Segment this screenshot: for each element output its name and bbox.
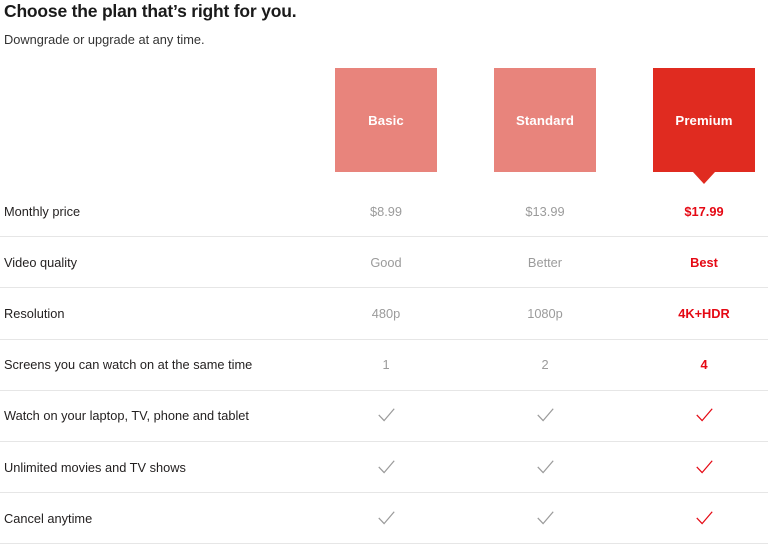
feature-label: Watch on your laptop, TV, phone and tabl… xyxy=(4,408,249,423)
check-icon xyxy=(536,509,555,528)
feature-value-cell: Good xyxy=(326,255,446,270)
feature-label: Cancel anytime xyxy=(4,511,92,526)
feature-value-cell: Best xyxy=(644,255,764,270)
feature-value-cell xyxy=(485,406,605,425)
check-icon xyxy=(536,406,555,425)
plan-comparison-page: Choose the plan that’s right for you. Do… xyxy=(0,0,768,543)
check-icon xyxy=(377,509,396,528)
plan-box-standard[interactable]: Standard xyxy=(494,68,596,172)
feature-value-cell: 4 xyxy=(644,357,764,372)
table-row: Monthly price$8.99$13.99$17.99 xyxy=(0,186,768,237)
check-icon xyxy=(695,458,714,477)
check-icon xyxy=(695,509,714,528)
selected-plan-pointer-icon xyxy=(693,172,715,184)
plan-name-label: Standard xyxy=(516,113,574,128)
check-icon xyxy=(377,406,396,425)
table-row: Screens you can watch on at the same tim… xyxy=(0,340,768,391)
feature-value-cell: 480p xyxy=(326,306,446,321)
feature-value-cell xyxy=(485,509,605,528)
plan-box-basic[interactable]: Basic xyxy=(335,68,437,172)
table-row: Watch on your laptop, TV, phone and tabl… xyxy=(0,391,768,442)
check-icon xyxy=(536,458,555,477)
feature-label: Video quality xyxy=(4,255,77,270)
feature-value-cell: 1080p xyxy=(485,306,605,321)
feature-label: Unlimited movies and TV shows xyxy=(4,460,186,475)
check-icon xyxy=(377,458,396,477)
feature-value-cell xyxy=(485,458,605,477)
feature-label: Resolution xyxy=(4,306,64,321)
feature-value-cell: 1 xyxy=(326,357,446,372)
feature-value-cell: 2 xyxy=(485,357,605,372)
table-row: Resolution480p1080p4K+HDR xyxy=(0,288,768,339)
feature-value-cell: Better xyxy=(485,255,605,270)
feature-value-cell: $17.99 xyxy=(644,204,764,219)
feature-value-cell: $8.99 xyxy=(326,204,446,219)
feature-value-cell xyxy=(644,458,764,477)
plan-box-premium[interactable]: Premium xyxy=(653,68,755,172)
plan-comparison-table: Monthly price$8.99$13.99$17.99Video qual… xyxy=(0,186,768,544)
feature-value-cell xyxy=(644,406,764,425)
table-row: Unlimited movies and TV shows xyxy=(0,442,768,493)
plan-name-label: Premium xyxy=(675,113,732,128)
feature-value-cell xyxy=(326,406,446,425)
feature-value-cell xyxy=(326,458,446,477)
feature-value-cell xyxy=(326,509,446,528)
plan-header-row: BasicStandardPremium xyxy=(0,0,768,190)
feature-label: Screens you can watch on at the same tim… xyxy=(4,357,252,372)
feature-value-cell: 4K+HDR xyxy=(644,306,764,321)
table-row: Cancel anytime xyxy=(0,493,768,544)
check-icon xyxy=(695,406,714,425)
feature-value-cell xyxy=(644,509,764,528)
feature-value-cell: $13.99 xyxy=(485,204,605,219)
feature-label: Monthly price xyxy=(4,204,80,219)
plan-name-label: Basic xyxy=(368,113,404,128)
table-row: Video qualityGoodBetterBest xyxy=(0,237,768,288)
